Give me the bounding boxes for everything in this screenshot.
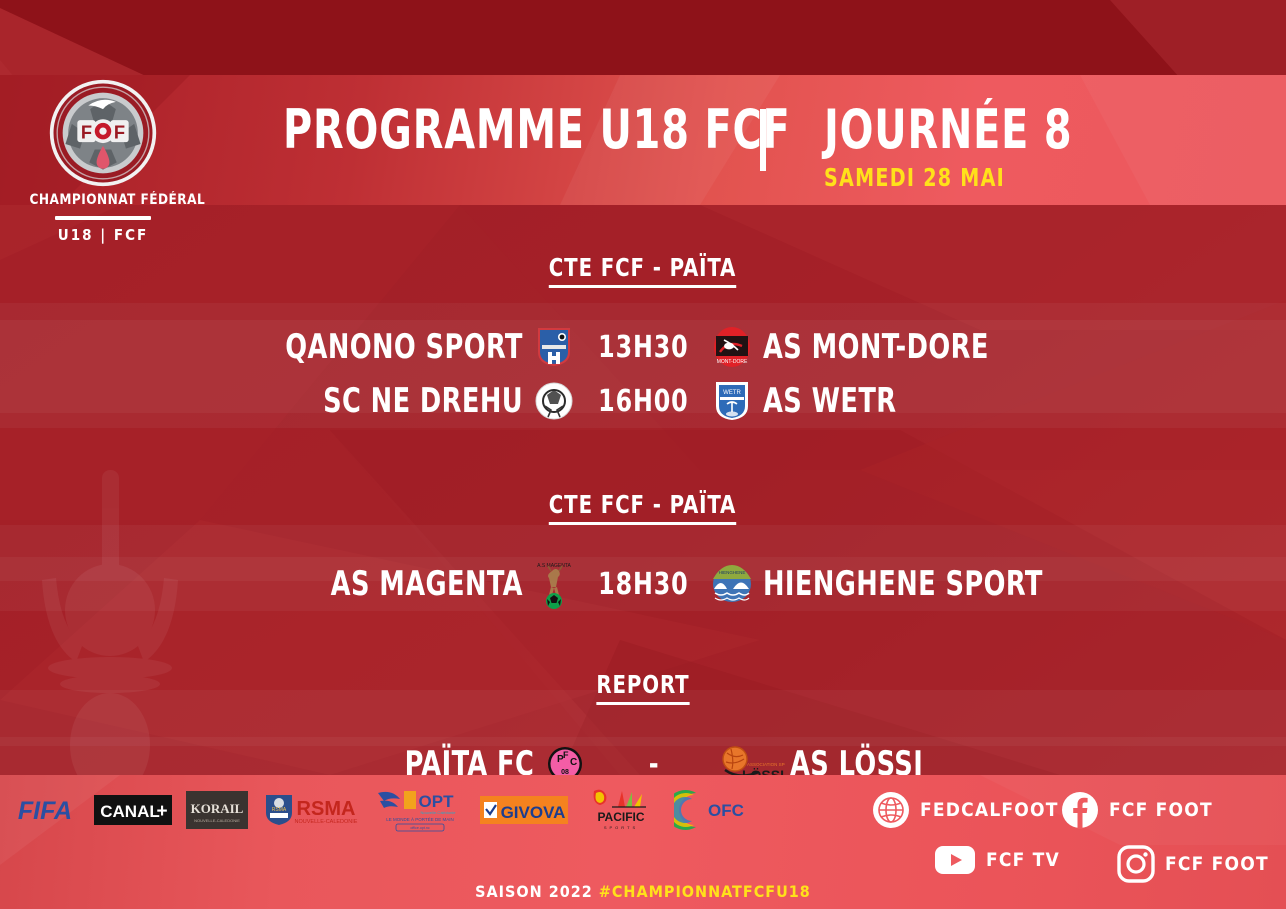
svg-text:NOUVELLE-CALEDONIE: NOUVELLE-CALEDONIE <box>295 819 358 825</box>
match-group: CTE FCF - PAÏTA QANONO SPORT 13H30 <box>0 205 1286 428</box>
svg-text:LE MONDE À PORTÉE DE MAIN: LE MONDE À PORTÉE DE MAIN <box>386 816 453 822</box>
svg-text:F: F <box>81 122 92 143</box>
pacific-logo: PACIFIC SPORTS <box>582 787 660 833</box>
fcf-federation-crest-icon: F F <box>48 78 158 188</box>
svg-text:F: F <box>114 122 125 143</box>
venue-heading: CTE FCF - PAÏTA <box>0 490 1286 529</box>
away-team-crest: WETR <box>701 380 763 422</box>
youtube-icon <box>934 845 976 875</box>
kickoff-time: 13H30 <box>585 330 701 365</box>
svg-text:RSMA: RSMA <box>297 798 356 820</box>
korail-logo: KORAIL NOUVELLE-CALEDONIE <box>186 791 248 829</box>
social-link-facebook[interactable]: FCF FOOT <box>1061 791 1213 829</box>
canal-plus-logo: CANAL + <box>94 795 172 825</box>
fifa-logo: FIFA <box>10 792 80 828</box>
givova-logo: GIVOVA <box>480 796 568 824</box>
as-magenta-crest-icon: A.S MAGENTA <box>534 559 574 609</box>
opt-logo: OPT Nouvelle-Calédonie LE MONDE À PORTÉE… <box>374 787 466 833</box>
globe-icon <box>872 791 910 829</box>
season-label: SAISON 2022 <box>475 882 593 901</box>
social-link-instagram[interactable]: FCF FOOT <box>1117 845 1269 883</box>
svg-text:CANAL: CANAL <box>100 802 160 821</box>
svg-text:+: + <box>156 801 167 822</box>
footer: FIFA CANAL + KORAIL NOUVELLE-CALEDONIE R… <box>0 775 1286 909</box>
social-label-instagram: FCF FOOT <box>1165 853 1269 875</box>
home-team-crest <box>523 326 585 368</box>
kickoff-time: 18H30 <box>585 567 701 602</box>
ofc-logo: OFC <box>674 789 754 831</box>
page-title: PROGRAMME U18 FCF <box>283 103 791 157</box>
svg-text:office.opt.nc: office.opt.nc <box>410 826 430 830</box>
svg-text:GIVOVA: GIVOVA <box>501 803 566 822</box>
hienghene-sport-crest-icon: HIENGHENE <box>711 563 753 605</box>
social-label-website: FEDCALFOOT <box>920 799 1059 821</box>
home-team-name: SC NE DREHU <box>133 384 523 418</box>
svg-text:NOUVELLE-CALEDONIE: NOUVELLE-CALEDONIE <box>194 818 240 823</box>
match-groups: CTE FCF - PAÏTA QANONO SPORT 13H30 <box>0 205 1286 791</box>
header-content: PROGRAMME U18 FCF JOURNÉE 8 SAMEDI 28 MA… <box>0 75 1286 205</box>
match-row[interactable]: AS MAGENTA A.S MAGENTA 18H30 <box>0 557 1286 611</box>
svg-text:MONT-DORE: MONT-DORE <box>717 359 748 365</box>
svg-text:HIENGHENE: HIENGHENE <box>719 570 746 575</box>
svg-text:WETR: WETR <box>723 390 741 396</box>
svg-text:Nouvelle-Calédonie: Nouvelle-Calédonie <box>421 810 457 815</box>
svg-text:PACIFIC: PACIFIC <box>597 810 644 824</box>
hashtag-label: #CHAMPIONNATFCFU18 <box>599 882 811 901</box>
svg-text:OPT: OPT <box>419 792 455 811</box>
svg-text:FIFA: FIFA <box>18 797 72 825</box>
svg-text:C: C <box>570 757 577 768</box>
match-group: REPORT PAÏTA FC P F C 08 - <box>0 611 1286 791</box>
svg-text:A.S MAGENTA: A.S MAGENTA <box>537 563 571 569</box>
title-separator <box>760 109 766 171</box>
svg-text:SPORTS: SPORTS <box>604 825 638 830</box>
kickoff-time: 16H00 <box>585 384 701 419</box>
home-team-crest <box>523 382 585 420</box>
home-team-crest: A.S MAGENTA <box>523 559 585 609</box>
away-team-name: AS WETR <box>763 384 1153 418</box>
social-label-youtube: FCF TV <box>986 849 1060 871</box>
sponsor-strip: FIFA CANAL + KORAIL NOUVELLE-CALEDONIE R… <box>10 787 754 833</box>
facebook-icon <box>1061 791 1099 829</box>
venue-heading: CTE FCF - PAÏTA <box>0 253 1286 292</box>
as-mont-dore-crest-icon: MONT-DORE <box>712 326 752 368</box>
match-row[interactable]: QANONO SPORT 13H30 <box>0 320 1286 374</box>
as-wetr-crest-icon: WETR <box>714 380 750 422</box>
away-team-crest: MONT-DORE <box>701 326 763 368</box>
qanono-sport-crest-icon <box>536 326 572 368</box>
match-row[interactable]: SC NE DREHU 16H00 <box>0 374 1286 428</box>
svg-text:RSMA: RSMA <box>272 807 287 813</box>
away-team-name: HIENGHENE SPORT <box>763 567 1153 601</box>
match-schedule-poster: PROGRAMME U18 FCF JOURNÉE 8 SAMEDI 28 MA… <box>0 0 1286 909</box>
instagram-icon <box>1117 845 1155 883</box>
home-team-name: QANONO SPORT <box>133 330 523 364</box>
matchday-title: JOURNÉE 8 <box>824 103 1072 157</box>
svg-text:F: F <box>563 750 569 760</box>
venue-heading: REPORT <box>0 670 1286 709</box>
social-link-website[interactable]: FEDCALFOOT <box>872 791 1059 829</box>
away-team-crest: HIENGHENE <box>701 563 763 605</box>
match-group: CTE FCF - PAÏTA AS MAGENTA A.S MAGENTA <box>0 428 1286 611</box>
matchday-date: SAMEDI 28 MAI <box>824 165 1005 190</box>
rsma-logo: RSMA RSMA NOUVELLE-CALEDONIE <box>262 791 360 829</box>
svg-text:KORAIL: KORAIL <box>191 801 244 816</box>
sc-ne-drehu-crest-icon <box>535 382 573 420</box>
social-label-facebook: FCF FOOT <box>1109 799 1213 821</box>
home-team-name: AS MAGENTA <box>133 567 523 601</box>
away-team-name: AS MONT-DORE <box>763 330 1153 364</box>
social-links: FEDCALFOOT FCF FOOT FCF TV <box>872 783 1272 893</box>
svg-text:OFC: OFC <box>708 801 744 820</box>
social-link-youtube[interactable]: FCF TV <box>934 845 1060 875</box>
